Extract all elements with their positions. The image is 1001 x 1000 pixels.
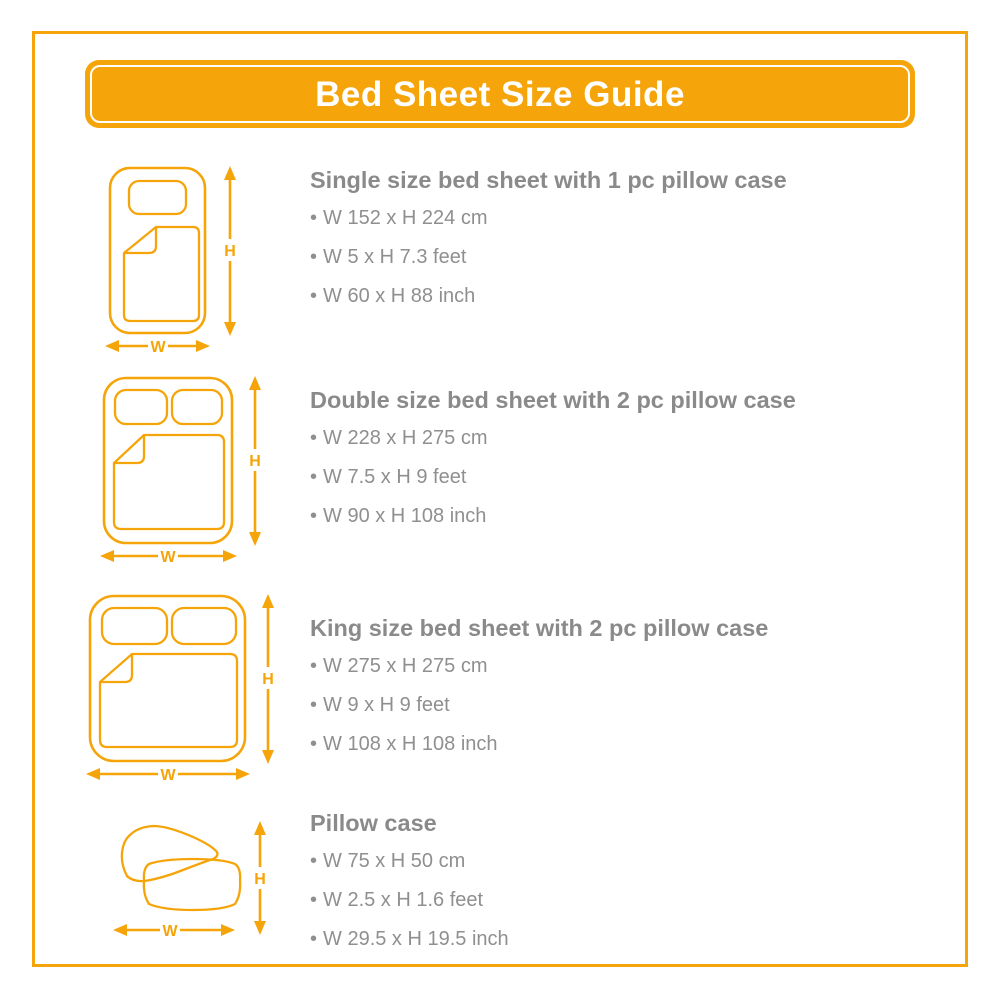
bullet-glyph: • <box>310 850 317 872</box>
pillow-shape <box>129 181 186 214</box>
pillow-case-icon: H W <box>93 813 273 948</box>
spec-item: •W 108 x H 108 inch <box>310 734 935 754</box>
arrow-head-left <box>86 768 100 780</box>
bullet-glyph: • <box>310 466 317 488</box>
spec-text: W 7.5 x H 9 feet <box>323 466 466 488</box>
arrow-head-down <box>249 532 261 546</box>
section-title-pillow: Pillow case <box>310 811 935 837</box>
bullet-glyph: • <box>310 427 317 449</box>
arrow-head-left <box>113 924 127 936</box>
arrow-head-down <box>224 322 236 336</box>
arrow-head-down <box>262 750 274 764</box>
spec-text: W 75 x H 50 cm <box>323 850 465 872</box>
size-section-double: H W Double size bed sheet with 2 pc pill… <box>75 370 935 570</box>
single-details: Single size bed sheet with 1 pc pillow c… <box>290 160 935 325</box>
spec-text: W 90 x H 108 inch <box>323 505 486 527</box>
sheet-shape <box>100 654 237 747</box>
spec-item: •W 152 x H 224 cm <box>310 208 935 228</box>
bullet-glyph: • <box>310 694 317 716</box>
arrow-head-left <box>105 340 119 352</box>
spec-list-pillow: •W 75 x H 50 cm •W 2.5 x H 1.6 feet •W 2… <box>310 851 935 949</box>
height-label: H <box>262 671 274 688</box>
spec-text: W 29.5 x H 19.5 inch <box>323 928 509 950</box>
width-dimension-arrow: W <box>100 546 237 567</box>
double-details: Double size bed sheet with 2 pc pillow c… <box>290 370 935 545</box>
spec-list-king: •W 275 x H 275 cm •W 9 x H 9 feet •W 108… <box>310 656 935 754</box>
spec-text: W 275 x H 275 cm <box>323 655 488 677</box>
spec-item: •W 5 x H 7.3 feet <box>310 247 935 267</box>
pillow-shape-right <box>172 608 236 644</box>
spec-item: •W 228 x H 275 cm <box>310 428 935 448</box>
sheet-shape <box>114 435 224 529</box>
spec-item: •W 9 x H 9 feet <box>310 695 935 715</box>
pillow-shape-right <box>172 390 222 424</box>
pillow-details: Pillow case •W 75 x H 50 cm •W 2.5 x H 1… <box>290 805 935 968</box>
width-label: W <box>162 923 178 940</box>
arrow-head-down <box>254 921 266 935</box>
width-dimension-arrow: W <box>113 920 235 941</box>
spec-item: •W 2.5 x H 1.6 feet <box>310 890 935 910</box>
king-details: King size bed sheet with 2 pc pillow cas… <box>290 588 935 773</box>
king-bed-icon: H W <box>80 588 285 788</box>
width-label: W <box>160 549 176 566</box>
arrow-head-right <box>221 924 235 936</box>
spec-text: W 228 x H 275 cm <box>323 427 488 449</box>
width-dimension-arrow: W <box>105 336 210 357</box>
bullet-glyph: • <box>310 889 317 911</box>
arrow-head-up <box>224 166 236 180</box>
king-bed-illustration: H W <box>75 588 290 788</box>
arrow-head-up <box>262 594 274 608</box>
height-label: H <box>249 453 261 470</box>
height-label: H <box>224 243 236 260</box>
arrow-head-right <box>223 550 237 562</box>
spec-text: W 2.5 x H 1.6 feet <box>323 889 483 911</box>
spec-item: •W 7.5 x H 9 feet <box>310 467 935 487</box>
size-section-king: H W King size bed sheet with 2 pc pillow… <box>75 588 935 788</box>
arrow-head-left <box>100 550 114 562</box>
single-bed-illustration: H W <box>75 160 290 355</box>
spec-item: •W 60 x H 88 inch <box>310 286 935 306</box>
spec-text: W 5 x H 7.3 feet <box>323 246 466 268</box>
pillow-shape-left <box>102 608 167 644</box>
spec-text: W 108 x H 108 inch <box>323 733 498 755</box>
spec-item: •W 90 x H 108 inch <box>310 506 935 526</box>
section-title-single: Single size bed sheet with 1 pc pillow c… <box>310 168 935 194</box>
double-bed-illustration: H W <box>75 370 290 570</box>
width-dimension-arrow: W <box>86 764 250 785</box>
bullet-glyph: • <box>310 207 317 229</box>
width-label: W <box>160 767 176 784</box>
spec-item: •W 275 x H 275 cm <box>310 656 935 676</box>
pillow-case-illustration: H W <box>75 805 290 948</box>
bullet-glyph: • <box>310 505 317 527</box>
height-label: H <box>254 871 266 888</box>
spec-text: W 9 x H 9 feet <box>323 694 450 716</box>
arrow-head-right <box>236 768 250 780</box>
height-dimension-arrow: H <box>221 166 239 336</box>
size-section-single: H W Single size bed sheet with 1 pc pill… <box>75 160 935 355</box>
pillow-shape-left <box>115 390 167 424</box>
page-title: Bed Sheet Size Guide <box>315 77 685 112</box>
size-section-pillow: H W Pillow case •W 75 x H 50 cm •W 2.5 x… <box>75 805 935 968</box>
height-dimension-arrow: H <box>259 594 277 764</box>
bullet-glyph: • <box>310 733 317 755</box>
bullet-glyph: • <box>310 246 317 268</box>
pillow-back-shape <box>121 826 217 881</box>
bullet-glyph: • <box>310 655 317 677</box>
page-title-banner: Bed Sheet Size Guide <box>85 60 915 128</box>
width-label: W <box>150 339 166 356</box>
spec-text: W 60 x H 88 inch <box>323 285 475 307</box>
height-dimension-arrow: H <box>246 376 264 546</box>
section-title-king: King size bed sheet with 2 pc pillow cas… <box>310 616 935 642</box>
spec-item: •W 75 x H 50 cm <box>310 851 935 871</box>
double-bed-icon: H W <box>88 370 278 570</box>
height-dimension-arrow: H <box>251 821 269 935</box>
spec-list-single: •W 152 x H 224 cm •W 5 x H 7.3 feet •W 6… <box>310 208 935 306</box>
arrow-head-up <box>249 376 261 390</box>
section-title-double: Double size bed sheet with 2 pc pillow c… <box>310 388 935 414</box>
spec-list-double: •W 228 x H 275 cm •W 7.5 x H 9 feet •W 9… <box>310 428 935 526</box>
spec-item: •W 29.5 x H 19.5 inch <box>310 929 935 949</box>
bullet-glyph: • <box>310 285 317 307</box>
arrow-head-up <box>254 821 266 835</box>
sheet-shape <box>124 227 199 321</box>
single-bed-icon: H W <box>93 160 273 355</box>
spec-text: W 152 x H 224 cm <box>323 207 488 229</box>
arrow-head-right <box>196 340 210 352</box>
bullet-glyph: • <box>310 928 317 950</box>
